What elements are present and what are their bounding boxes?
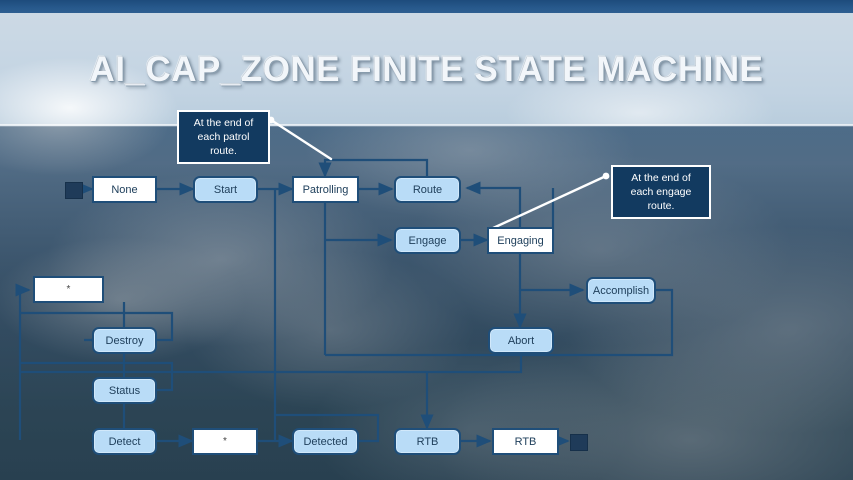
state-node-engaging[interactable]: Engaging xyxy=(487,227,554,254)
state-node-route[interactable]: Route xyxy=(394,176,461,203)
node-label: Start xyxy=(214,184,237,196)
node-label: Status xyxy=(109,385,140,397)
state-node-detect[interactable]: Detect xyxy=(92,428,157,455)
state-node-destroy[interactable]: Destroy xyxy=(92,327,157,354)
callout-patrol-note[interactable]: At the end of each patrol route. xyxy=(177,110,270,164)
node-label: None xyxy=(111,184,137,196)
state-node-start[interactable]: Start xyxy=(193,176,258,203)
state-node-rtb-blue[interactable]: RTB xyxy=(394,428,461,455)
callout-engage-note[interactable]: At the end of each engage route. xyxy=(611,165,711,219)
node-label: Engage xyxy=(409,235,447,247)
node-label: * xyxy=(67,284,71,295)
engage-note-leader xyxy=(491,176,606,229)
state-node-rtb-white[interactable]: RTB xyxy=(492,428,559,455)
node-label: RTB xyxy=(515,436,537,448)
patrol-note-leader xyxy=(271,120,331,159)
state-node-accomplish[interactable]: Accomplish xyxy=(586,277,656,304)
callout-line-1: At the end of xyxy=(186,116,261,130)
state-node-engage[interactable]: Engage xyxy=(394,227,461,254)
state-node-none[interactable]: None xyxy=(92,176,157,203)
state-node-status[interactable]: Status xyxy=(92,377,157,404)
node-label: Abort xyxy=(508,335,534,347)
state-node-any-bottom[interactable]: * xyxy=(192,428,258,455)
node-label: Detect xyxy=(109,436,141,448)
node-label: Engaging xyxy=(497,235,544,247)
node-label: Destroy xyxy=(106,335,144,347)
state-node-patrolling[interactable]: Patrolling xyxy=(292,176,359,203)
node-label: Accomplish xyxy=(593,285,649,297)
callout-line-2: each patrol route. xyxy=(186,130,261,158)
state-node-detected[interactable]: Detected xyxy=(292,428,359,455)
callout-line-1: At the end of xyxy=(620,171,702,185)
node-label: Patrolling xyxy=(303,184,349,196)
start-terminal xyxy=(65,182,83,199)
callout-line-2: each engage route. xyxy=(620,185,702,213)
state-node-abort[interactable]: Abort xyxy=(488,327,554,354)
end-terminal xyxy=(570,434,588,451)
engage-note-leader-dot xyxy=(603,173,610,180)
slide-canvas: AI_CAP_ZONE FINITE STATE MACHINE xyxy=(0,0,853,480)
node-label: Detected xyxy=(303,436,347,448)
node-label: Route xyxy=(413,184,442,196)
node-label: * xyxy=(223,436,227,447)
state-node-any-top[interactable]: * xyxy=(33,276,104,303)
node-label: RTB xyxy=(417,436,439,448)
